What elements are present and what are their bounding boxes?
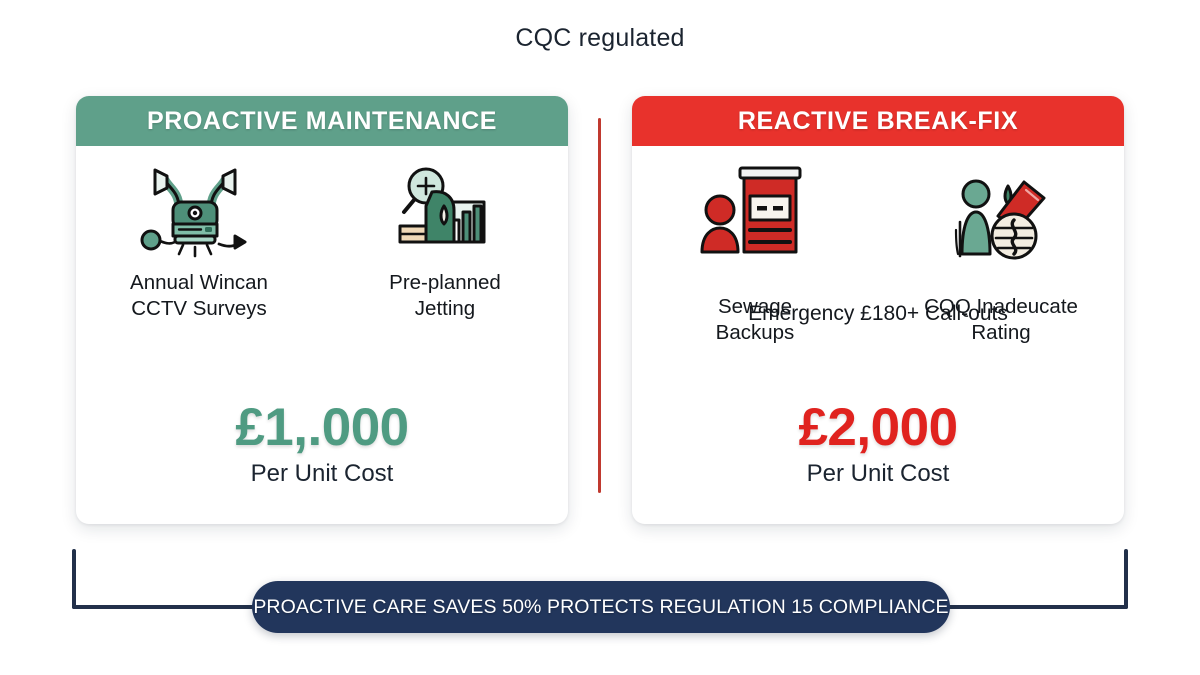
center-divider [598,118,601,493]
price-caption: Per Unit Cost [632,460,1124,488]
reactive-break-fix-card: REACTIVE BREAK-FIX [632,96,1124,524]
page-title: CQC regulated [0,24,1200,53]
summary-banner-text: PROACTIVE CARE SAVES 50% PROTECTS REGULA… [253,596,948,619]
feature-label: Annual Wincan CCTV Surveys [94,270,304,322]
reactive-card-body: Sewage Backups [632,146,1124,524]
proactive-maintenance-card: PROACTIVE MAINTENANCE [76,96,568,524]
price-value: £1,.000 [76,400,568,456]
feature-pre-planned-jetting: Pre-planned Jetting [340,160,550,322]
price-value: £2,000 [632,400,1124,456]
card-header-reactive: REACTIVE BREAK-FIX [632,96,1124,146]
proactive-card-body: Annual Wincan CCTV Surveys [76,146,568,524]
bracket-left-arm [72,549,76,609]
card-header-proactive: PROACTIVE MAINTENANCE [76,96,568,146]
price-caption: Per Unit Cost [76,460,568,488]
jetting-chart-icon [340,160,550,260]
summary-banner: PROACTIVE CARE SAVES 50% PROTECTS REGULA… [252,581,950,633]
reactive-price-block: £2,000 Per Unit Cost [632,400,1124,488]
inadequate-rating-icon [896,160,1106,260]
feature-annual-wincan-cctv: Annual Wincan CCTV Surveys [94,160,304,322]
feature-label: Pre-planned Jetting [340,270,550,322]
proactive-feature-row: Annual Wincan CCTV Surveys [76,160,568,322]
sewage-backup-icon [650,160,860,260]
emergency-callout-caption: Emergency £180+ Call-outs [632,302,1124,326]
proactive-price-block: £1,.000 Per Unit Cost [76,400,568,488]
cctv-crawler-icon [94,160,304,260]
bracket-right-arm [1124,549,1128,609]
